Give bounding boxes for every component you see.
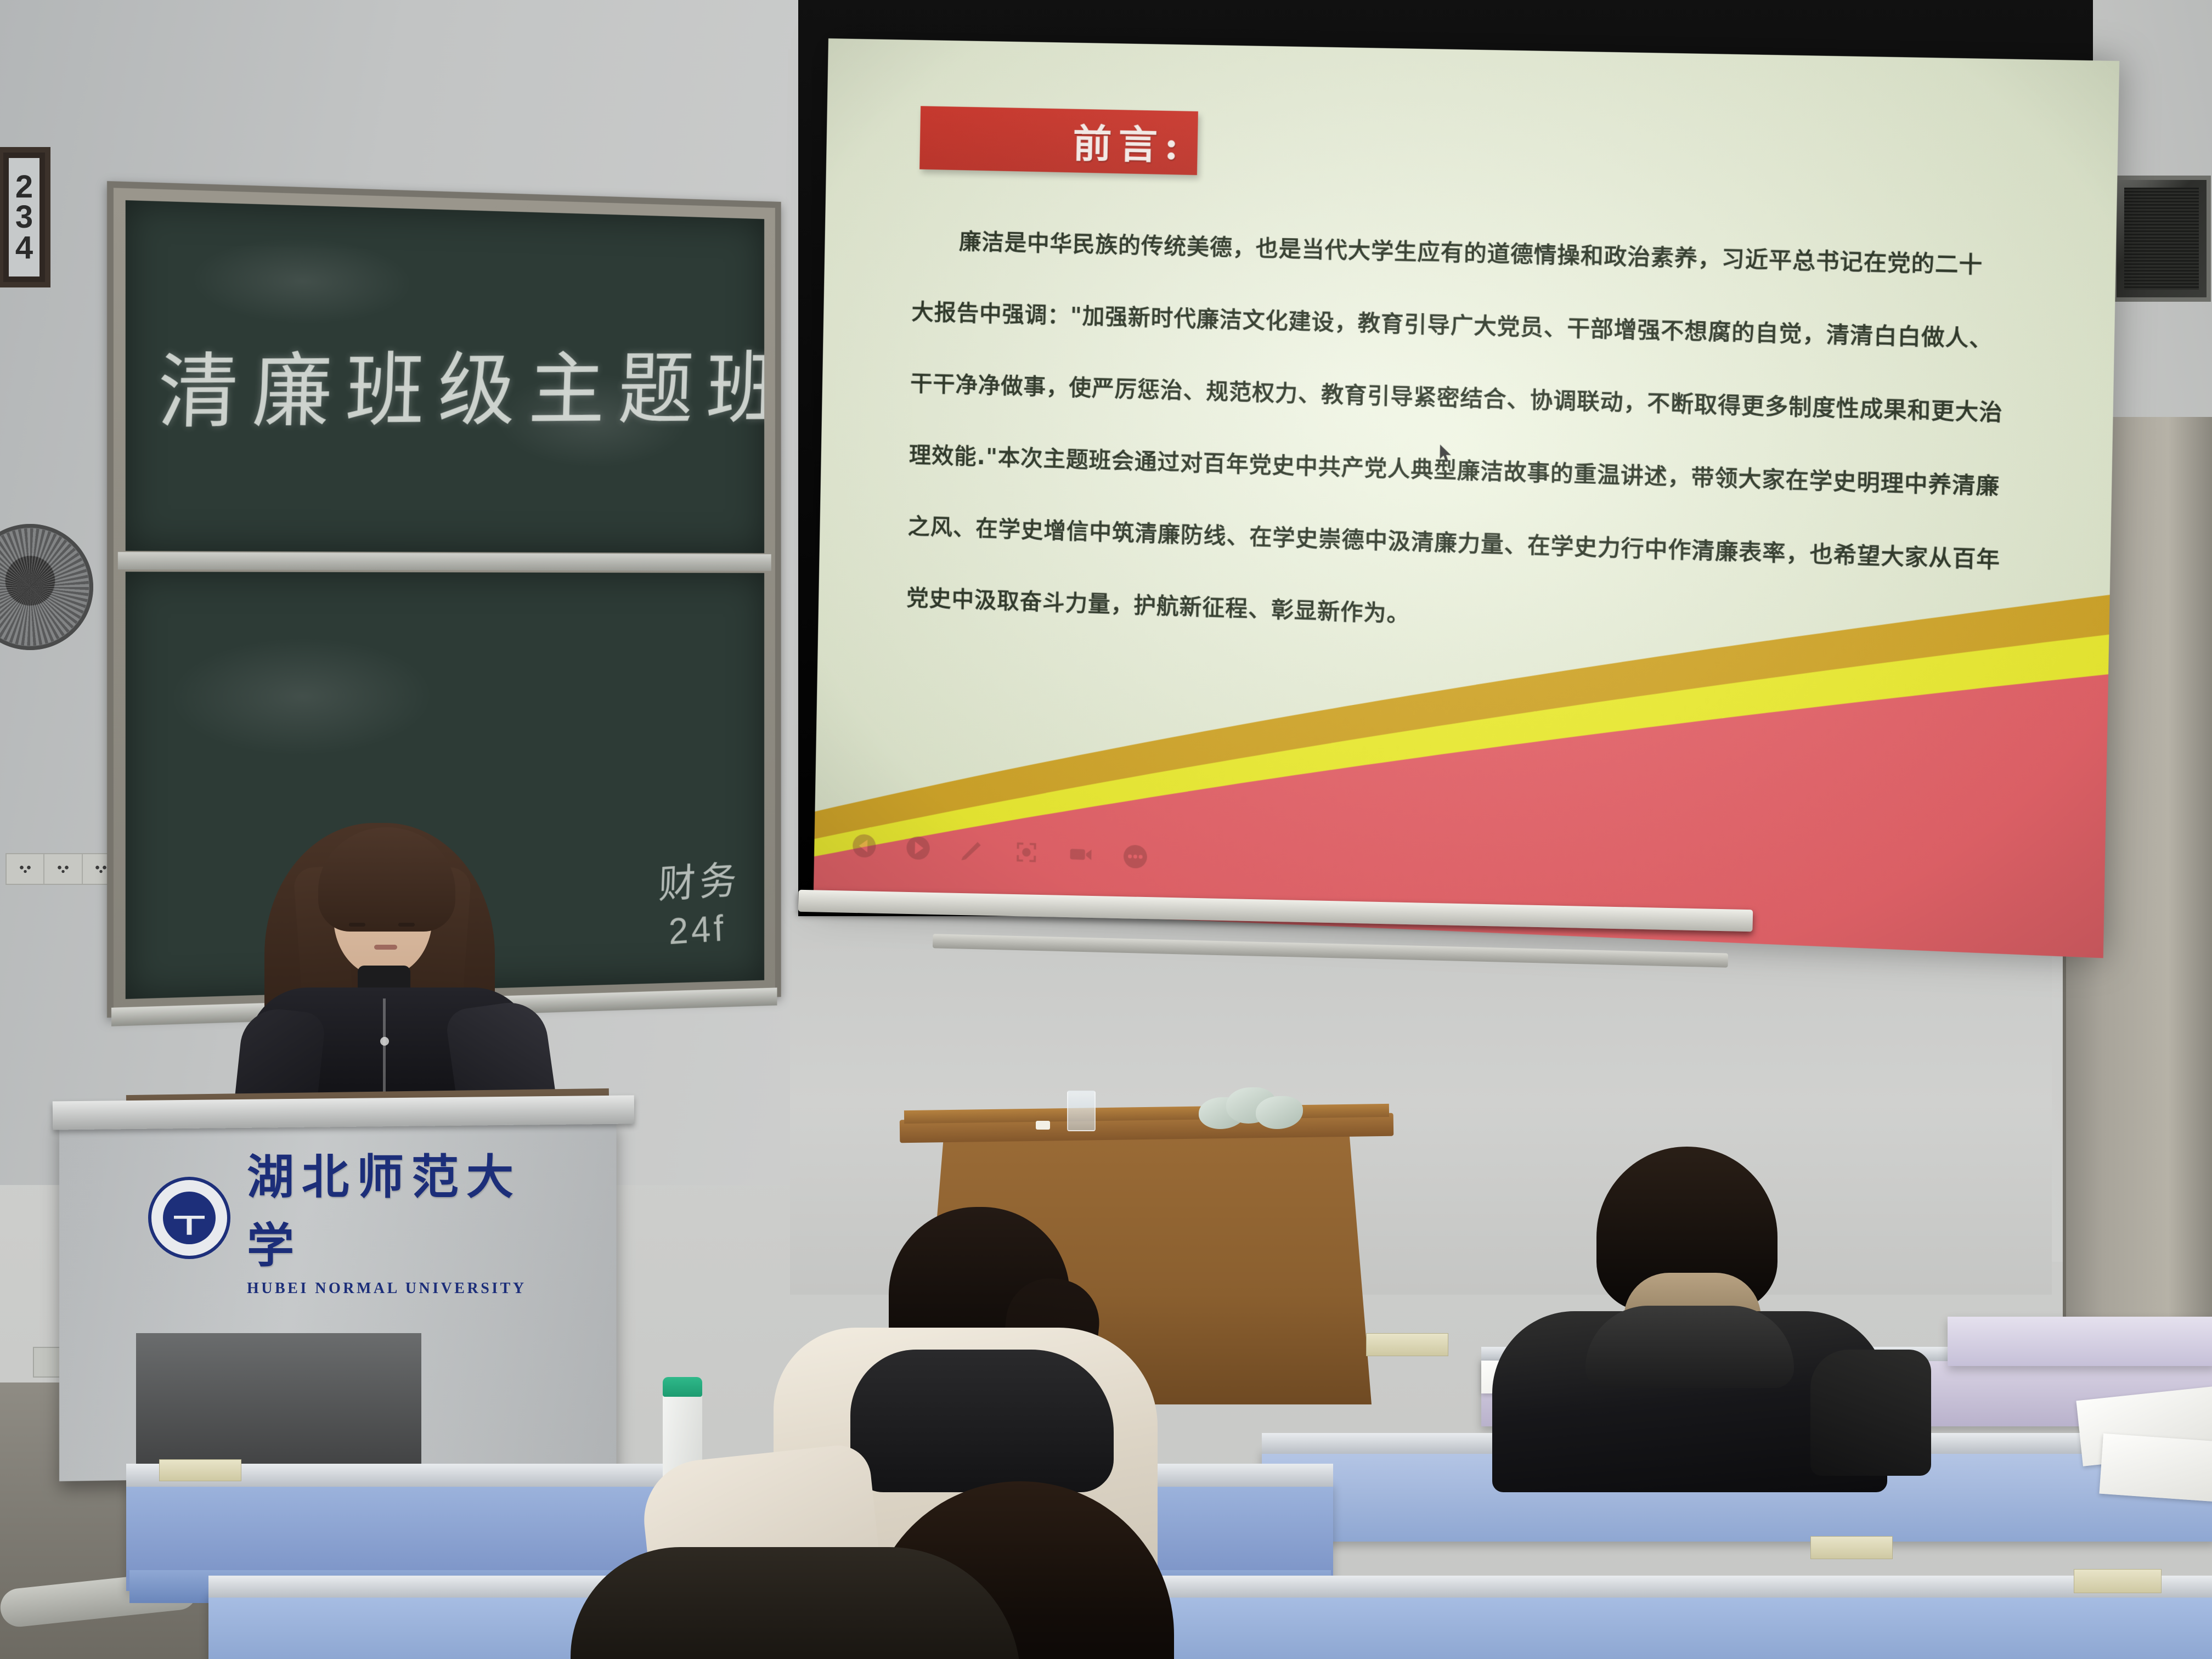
clear-cup	[1067, 1091, 1096, 1131]
socket-2[interactable]	[44, 854, 82, 884]
desk-edge-front	[208, 1576, 2212, 1598]
student-shoulder-left	[571, 1547, 1020, 1659]
next-slide-icon[interactable]	[905, 835, 931, 861]
desk-tag-1	[1366, 1333, 1448, 1356]
room-digit-3: 4	[15, 233, 33, 263]
desk-row-front	[208, 1591, 2212, 1659]
desk-corner-right	[1948, 1317, 2212, 1366]
socket-1[interactable]	[7, 854, 44, 884]
paper-sheet-right-2	[2099, 1434, 2212, 1502]
chalk-piece	[1036, 1121, 1050, 1130]
pen-tool-icon[interactable]	[960, 837, 985, 864]
lectern-top-surface	[53, 1095, 634, 1130]
desk-tag-2	[2074, 1569, 2162, 1593]
classroom-scene: 2 3 4 清廉班级主题班 财务 24f	[0, 0, 2212, 1659]
record-video-icon[interactable]	[1068, 841, 1093, 867]
slide-body: 廉洁是中华民族的传统美德，也是当代大学生应有的道德情操和政治素养，习近平总书记在…	[906, 205, 2025, 671]
university-name-cn: 湖北师范大学	[247, 1138, 549, 1276]
mouse-cursor-icon	[1438, 443, 1454, 464]
blackboard-upper-panel: 清廉班级主题班	[126, 200, 764, 553]
previous-slide-icon[interactable]	[851, 833, 877, 859]
crumpled-cloth	[1199, 1087, 1303, 1132]
room-number-sign: 2 3 4	[0, 147, 50, 287]
chalk-subtitle-2: 24f	[668, 907, 727, 952]
desk-tag-4	[159, 1459, 241, 1481]
slide-title-banner: 前言:	[919, 106, 1198, 175]
student-black-fur-collar	[1459, 1147, 1920, 1454]
chalk-subtitle-1: 财务	[658, 849, 741, 910]
more-options-icon[interactable]	[1122, 843, 1149, 870]
university-name-en: HUBEI NORMAL UNIVERSITY	[247, 1280, 549, 1297]
university-logo: 湖北师范大学 HUBEI NORMAL UNIVERSITY	[148, 1163, 549, 1273]
university-seal-icon	[148, 1177, 230, 1259]
blackboard-rail	[118, 552, 771, 571]
wall-speaker-icon	[2112, 176, 2211, 302]
presentation-slide[interactable]: 前言: 廉洁是中华民族的传统美德，也是当代大学生应有的道德情操和政治素养，习近平…	[813, 38, 2119, 958]
slide-title-text: 前言:	[1073, 113, 1186, 171]
room-digit-2: 3	[15, 202, 33, 232]
pointer-highlight-icon[interactable]	[1013, 839, 1039, 866]
power-socket-strip[interactable]	[5, 853, 121, 885]
desk-tag-3	[1810, 1536, 1893, 1559]
room-digit-1: 2	[15, 172, 33, 202]
chalk-title-text: 清廉班级主题班	[156, 325, 764, 444]
